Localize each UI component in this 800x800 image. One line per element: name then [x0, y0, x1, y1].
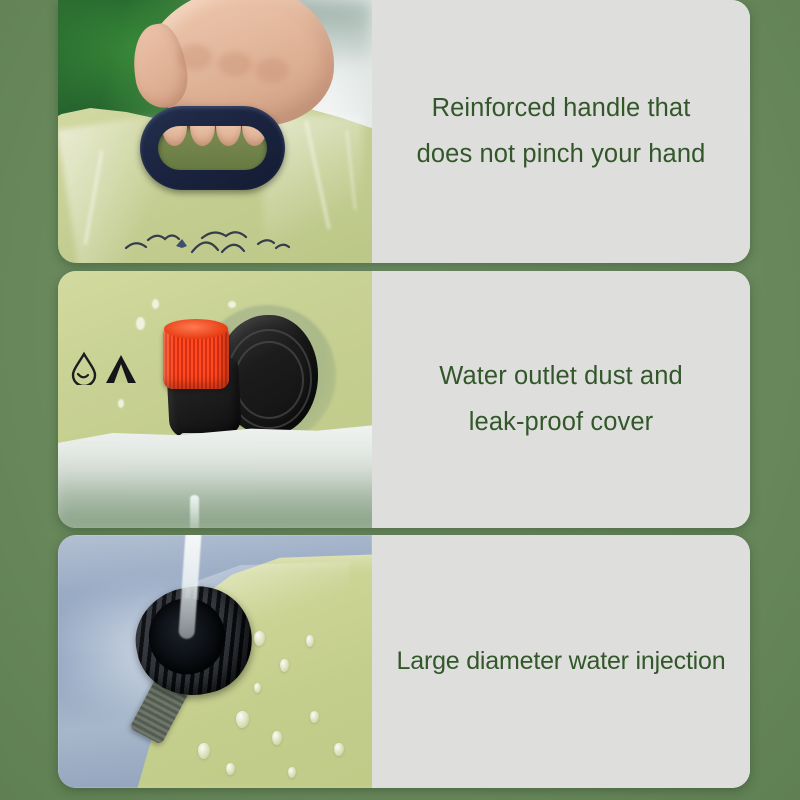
feature-panel-outlet: Water outlet dust and leak-proof cover: [58, 271, 750, 528]
tent-icon: [104, 353, 138, 385]
caption-outlet: Water outlet dust and leak-proof cover: [372, 271, 750, 528]
water-outlet-red-cap-photo: [58, 271, 372, 528]
hand-gripping-reinforced-handle-photo: [58, 0, 372, 263]
water-blur-overlay: [58, 468, 372, 528]
feature-panel-injection: Large diameter water injection: [58, 535, 750, 788]
caption-handle: Reinforced handle that does not pinch yo…: [372, 0, 750, 263]
knuckle-shadow: [218, 52, 252, 76]
finger: [162, 126, 187, 146]
infographic-stage: Reinforced handle that does not pinch yo…: [0, 0, 800, 800]
finger: [216, 126, 241, 146]
red-dust-cap-top: [164, 319, 228, 339]
water-drop-icon: [68, 351, 100, 385]
handle-opening: [158, 126, 267, 170]
finger: [242, 126, 267, 146]
knuckle-shadow: [178, 44, 212, 70]
outlet-ring: [234, 341, 304, 419]
water-droplet: [228, 301, 236, 308]
water-droplet: [136, 317, 145, 330]
bag-printed-line-art: [118, 222, 308, 258]
feature-panel-handle: Reinforced handle that does not pinch yo…: [58, 0, 750, 263]
caption-injection-text: Large diameter water injection: [397, 639, 726, 684]
large-diameter-water-injection-photo: [58, 535, 372, 788]
caption-injection: Large diameter water injection: [372, 535, 750, 788]
water-droplet: [152, 299, 159, 309]
finger: [190, 126, 215, 146]
reinforced-handle: [140, 106, 285, 190]
caption-outlet-text: Water outlet dust and leak-proof cover: [439, 354, 683, 445]
water-droplet: [118, 399, 124, 408]
knuckle-shadow: [256, 58, 288, 82]
water-stream: [190, 495, 199, 528]
caption-handle-text: Reinforced handle that does not pinch yo…: [417, 86, 706, 177]
